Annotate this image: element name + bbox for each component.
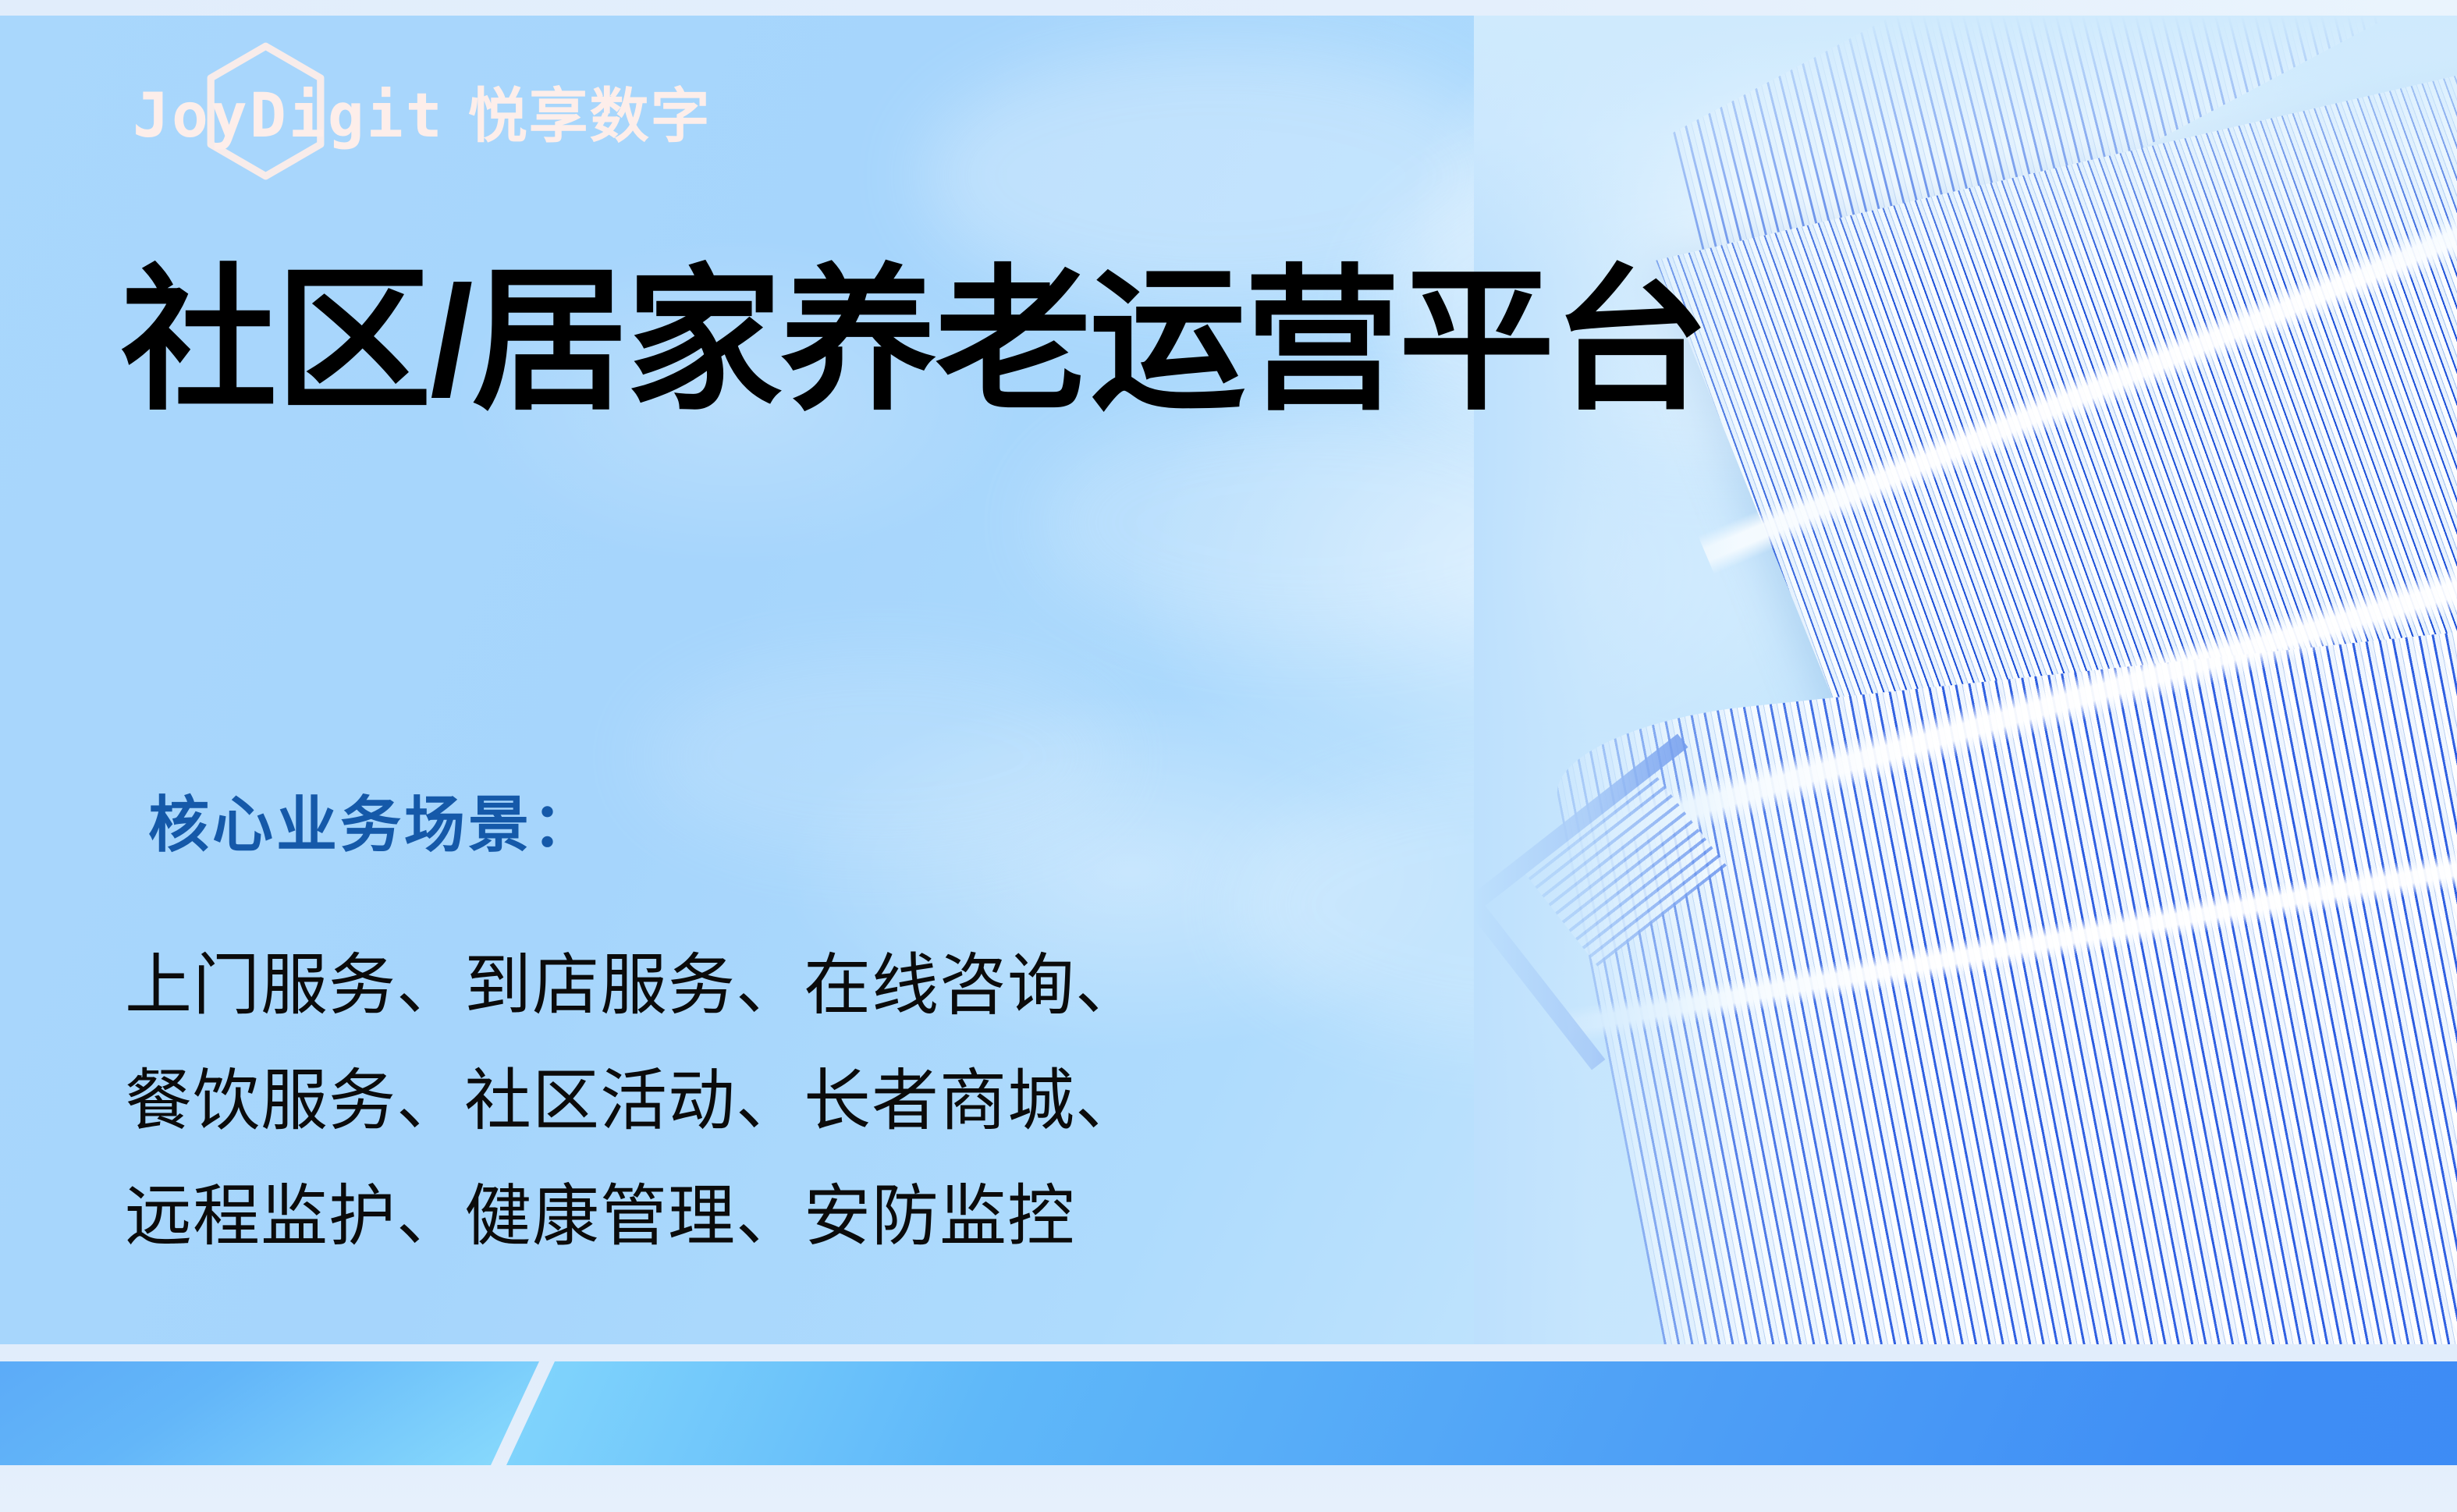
- cloud-shape: [1038, 406, 1584, 640]
- section-heading: 核心业务场景：: [148, 776, 596, 864]
- cloud-shape: [640, 655, 1124, 858]
- top-accent-strip: [0, 0, 2457, 16]
- slide-root: JoyDigit 悦享数字 社区/居家养老运营平台 核心业务场景： 上门服务、到…: [0, 0, 2457, 1512]
- bottom-bar-left: [0, 1361, 539, 1465]
- scenario-list: 上门服务、到店服务、在线咨询、 餐饮服务、社区活动、长者商城、 远程监护、健康管…: [125, 928, 1143, 1275]
- brand-logo: JoyDigit 悦享数字: [133, 64, 712, 158]
- scenario-line: 上门服务、到店服务、在线咨询、: [125, 928, 1143, 1044]
- cloud-shape: [1233, 765, 1873, 1045]
- brand-name-cn: 悦享数字: [468, 68, 712, 154]
- bottom-bar-right: [506, 1361, 2457, 1465]
- brand-name-en: JoyDigit: [133, 81, 445, 151]
- scenario-line: 远程监护、健康管理、安防监控: [125, 1159, 1143, 1275]
- page-title: 社区/居家养老运营平台: [121, 257, 1708, 426]
- scenario-line: 餐饮服务、社区活动、长者商城、: [125, 1044, 1143, 1159]
- brand-logo-text: JoyDigit 悦享数字: [133, 68, 712, 154]
- cloud-shape: [1935, 921, 2457, 1248]
- bottom-decorative-band: [0, 1344, 2457, 1512]
